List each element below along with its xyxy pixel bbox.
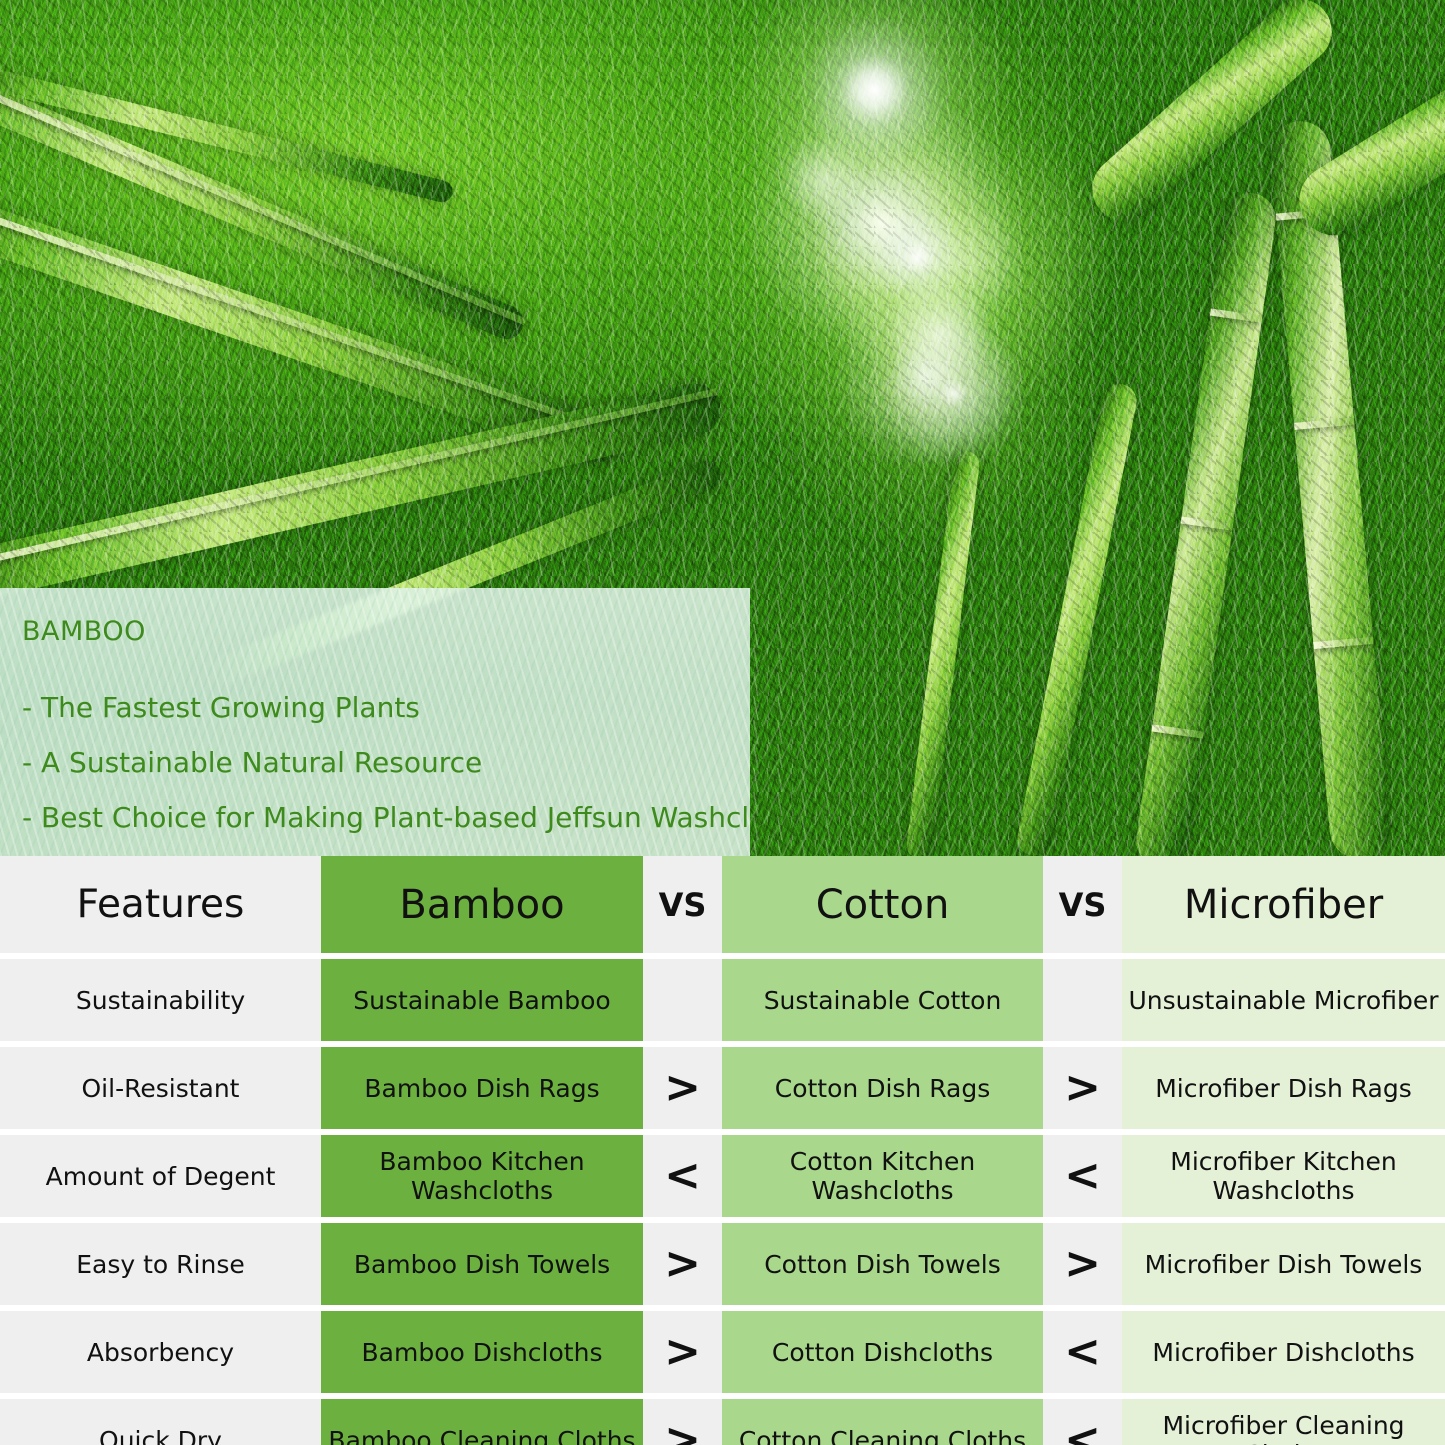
row-operator-2: < [1043,1311,1122,1393]
table-row: Absorbency Bamboo Dishcloths > Cotton Di… [0,1311,1445,1393]
header-features: Features [0,856,321,953]
header-vs-2: VS [1043,856,1122,953]
row-microfiber-value: Microfiber Dish Rags [1122,1047,1445,1129]
bamboo-info-overlay: BAMBOO - The Fastest Growing Plants - A … [0,588,750,856]
row-bamboo-value: Bamboo Dish Towels [321,1223,643,1305]
row-microfiber-value: Microfiber Dishcloths [1122,1311,1445,1393]
bamboo-forest-photo: BAMBOO - The Fastest Growing Plants - A … [0,0,1445,856]
header-bamboo: Bamboo [321,856,643,953]
comparison-table: Features Bamboo VS Cotton VS Microfiber … [0,856,1445,1445]
row-feature-label: Easy to Rinse [0,1223,321,1305]
row-bamboo-value: Bamboo Cleaning Cloths [321,1399,643,1445]
row-feature-label: Absorbency [0,1311,321,1393]
row-operator-1: > [643,1399,722,1445]
row-cotton-value: Cotton Cleaning Cloths [722,1399,1043,1445]
row-bamboo-value: Bamboo Dishcloths [321,1311,643,1393]
row-feature-label: Oil-Resistant [0,1047,321,1129]
row-operator-2: > [1043,1047,1122,1129]
row-cotton-value: Cotton Kitchen Washcloths [722,1135,1043,1217]
row-cotton-value: Cotton Dish Rags [722,1047,1043,1129]
table-row: Quick Dry Bamboo Cleaning Cloths > Cotto… [0,1399,1445,1445]
row-operator-2: < [1043,1135,1122,1217]
row-microfiber-value: Microfiber Cleaning Cloths [1122,1399,1445,1445]
row-operator-1: < [643,1135,722,1217]
row-feature-label: Amount of Degent [0,1135,321,1217]
table-row: Oil-Resistant Bamboo Dish Rags > Cotton … [0,1047,1445,1129]
table-row: Amount of Degent Bamboo Kitchen Washclot… [0,1135,1445,1217]
row-operator-1 [643,959,722,1041]
row-operator-2: > [1043,1223,1122,1305]
row-bamboo-value: Sustainable Bamboo [321,959,643,1041]
row-microfiber-value: Microfiber Dish Towels [1122,1223,1445,1305]
overlay-title: BAMBOO [22,616,750,647]
product-comparison-infographic: BAMBOO - The Fastest Growing Plants - A … [0,0,1445,1445]
row-operator-1: > [643,1047,722,1129]
row-cotton-value: Cotton Dish Towels [722,1223,1043,1305]
row-cotton-value: Sustainable Cotton [722,959,1043,1041]
row-cotton-value: Cotton Dishcloths [722,1311,1043,1393]
row-microfiber-value: Microfiber Kitchen Washcloths [1122,1135,1445,1217]
table-header-row: Features Bamboo VS Cotton VS Microfiber [0,856,1445,953]
overlay-bullet-3: - Best Choice for Making Plant-based Jef… [22,801,750,834]
row-operator-2 [1043,959,1122,1041]
row-operator-1: > [643,1223,722,1305]
header-cotton: Cotton [722,856,1043,953]
row-operator-2: < [1043,1399,1122,1445]
row-feature-label: Sustainability [0,959,321,1041]
header-microfiber: Microfiber [1122,856,1445,953]
overlay-bullet-1: - The Fastest Growing Plants [22,691,750,724]
row-bamboo-value: Bamboo Kitchen Washcloths [321,1135,643,1217]
overlay-bullet-2: - A Sustainable Natural Resource [22,746,750,779]
header-vs-1: VS [643,856,722,953]
table-row: Sustainability Sustainable Bamboo Sustai… [0,959,1445,1041]
row-feature-label: Quick Dry [0,1399,321,1445]
row-microfiber-value: Unsustainable Microfiber [1122,959,1445,1041]
row-operator-1: > [643,1311,722,1393]
row-bamboo-value: Bamboo Dish Rags [321,1047,643,1129]
table-row: Easy to Rinse Bamboo Dish Towels > Cotto… [0,1223,1445,1305]
